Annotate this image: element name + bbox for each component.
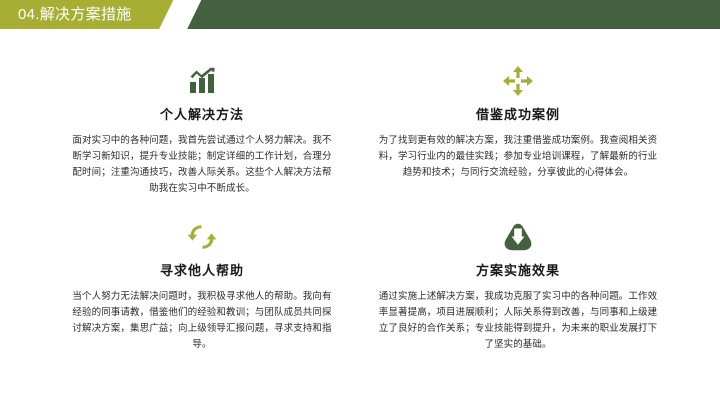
four-way-arrows-icon	[358, 64, 678, 98]
card-body-text: 面对实习中的各种问题，我首先尝试通过个人努力解决。我不断学习新知识，提升专业技能…	[68, 133, 336, 197]
card-seek-help: 寻求他人帮助 当个人努力无法解决问题时，我积极寻求他人的帮助。我向有经验的同事请…	[42, 220, 362, 353]
card-title: 借鉴成功案例	[358, 106, 678, 124]
card-title: 寻求他人帮助	[42, 262, 362, 280]
card-body-text: 为了找到更有效的解决方案，我注重借鉴成功案例。我查阅相关资料，学习行业内的最佳实…	[375, 133, 661, 181]
bar-chart-growth-icon	[42, 64, 362, 98]
cards-grid: 个人解决方法 面对实习中的各种问题，我首先尝试通过个人努力解决。我不断学习新知识…	[0, 58, 720, 398]
card-title: 方案实施效果	[358, 262, 678, 280]
slide-header: 04.解决方案措施	[0, 0, 720, 29]
refresh-cycle-icon	[42, 220, 362, 254]
card-title: 个人解决方法	[42, 106, 362, 124]
card-successful-cases: 借鉴成功案例 为了找到更有效的解决方案，我注重借鉴成功案例。我查阅相关资料，学习…	[358, 64, 678, 181]
card-implementation-results: 方案实施效果 通过实施上述解决方案，我成功克服了实习中的各种问题。工作效率显著提…	[358, 220, 678, 353]
recycle-download-icon	[358, 220, 678, 254]
card-personal-solution: 个人解决方法 面对实习中的各种问题，我首先尝试通过个人努力解决。我不断学习新知识…	[42, 64, 362, 197]
card-body-text: 当个人努力无法解决问题时，我积极寻求他人的帮助。我向有经验的同事请教，借鉴他们的…	[68, 289, 336, 353]
card-body-text: 通过实施上述解决方案，我成功克服了实习中的各种问题。工作效率显著提高，项目进展顺…	[375, 289, 661, 353]
page-title: 04.解决方案措施	[18, 4, 132, 25]
